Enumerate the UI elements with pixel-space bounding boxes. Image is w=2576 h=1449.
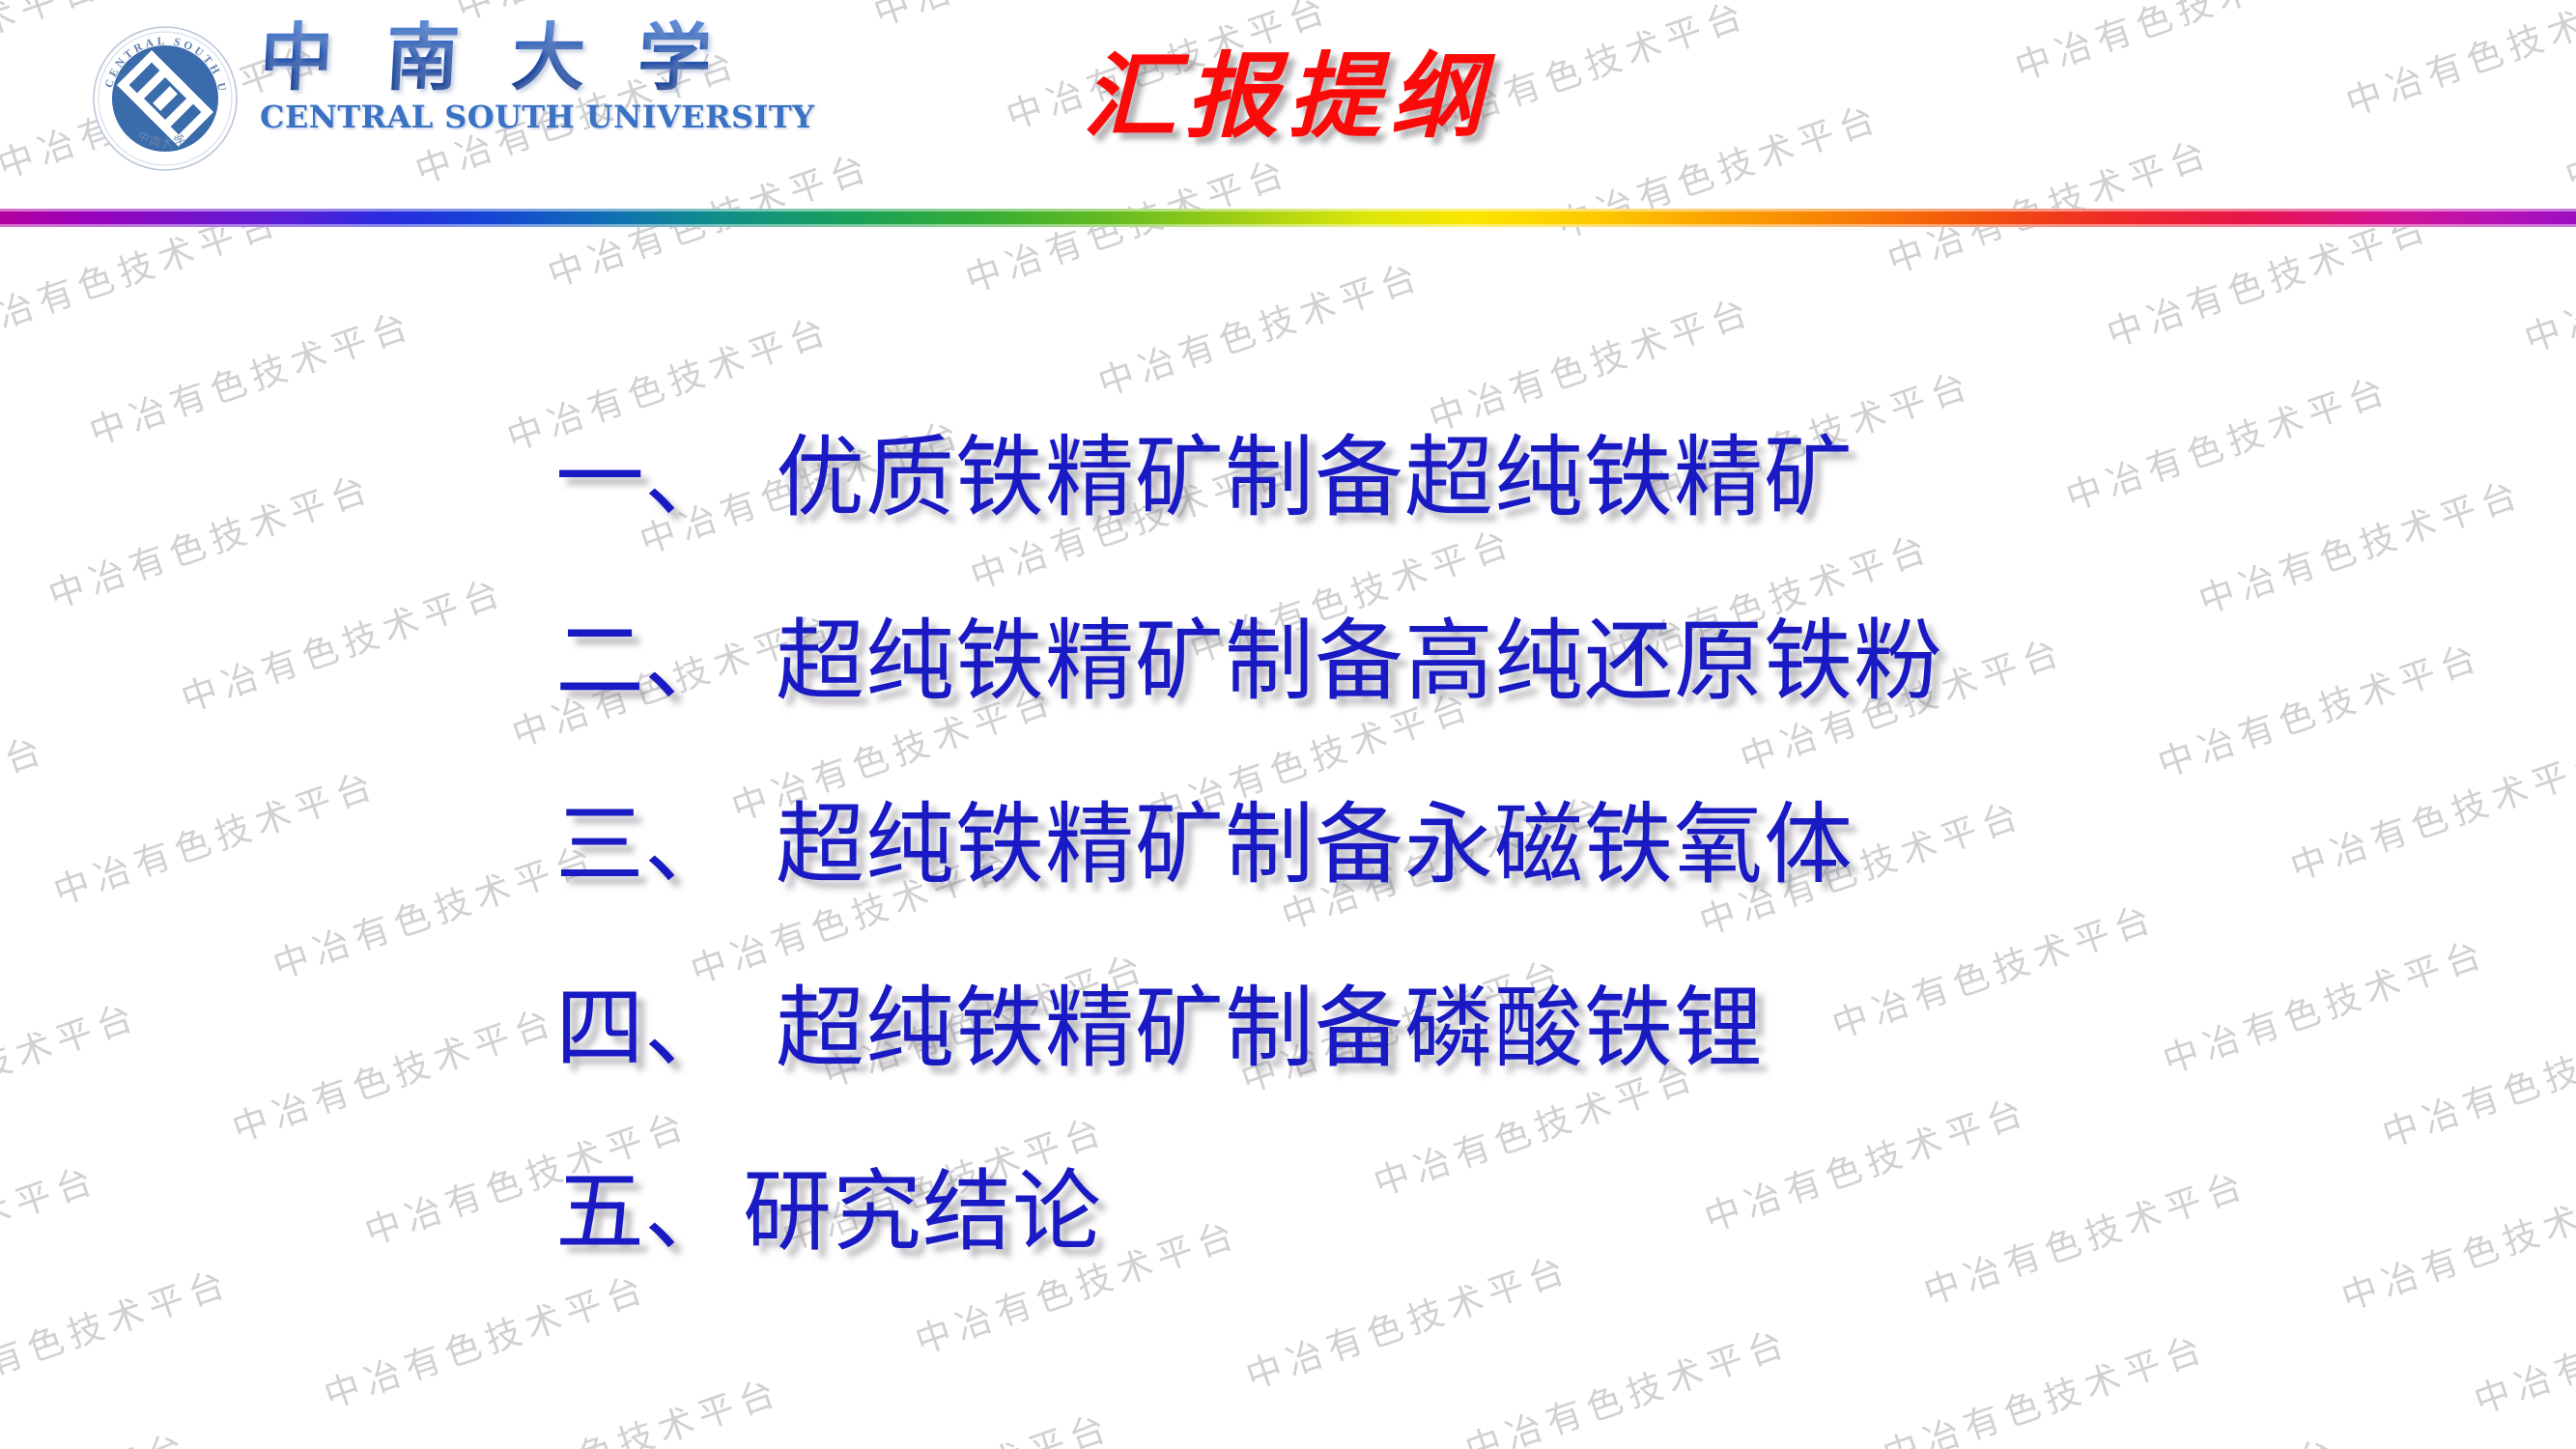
watermark-text: 中冶有色技术平台 bbox=[449, 1362, 787, 1449]
outline-item-number: 四、 bbox=[555, 937, 733, 1121]
outline-item: 二、超纯铁精矿制备高纯还原铁粉 bbox=[0, 570, 2576, 753]
outline-item-label: 超纯铁精矿制备磷酸铁锂 bbox=[776, 937, 1764, 1121]
university-logo: CENTRAL SOUTH UNIVERSITY 中南大学 中 南 大 学 CE… bbox=[92, 15, 768, 194]
outline-item-number: 五、 bbox=[555, 1121, 733, 1304]
outline-item: 四、超纯铁精矿制备磷酸铁锂 bbox=[0, 937, 2576, 1121]
outline-item: 一、优质铁精矿制备超纯铁精矿 bbox=[0, 386, 2576, 570]
watermark-text: 中冶有色技术平台 bbox=[1090, 246, 1429, 407]
outline-item-label: 研究结论 bbox=[743, 1121, 1102, 1304]
outline-item-number: 一、 bbox=[555, 386, 733, 570]
outline-item-label: 超纯铁精矿制备永磁铁氧体 bbox=[776, 753, 1854, 937]
watermark-text: 中冶有色技术平台 bbox=[1458, 1313, 1796, 1449]
presentation-slide: 中冶有色技术平台中冶有色技术平台中冶有色技术平台中冶有色技术平台中冶有色技术平台… bbox=[0, 0, 2576, 1449]
watermark-text: 中冶有色技术平台 bbox=[0, 1416, 196, 1449]
slide-header: CENTRAL SOUTH UNIVERSITY 中南大学 中 南 大 学 CE… bbox=[0, 0, 2576, 209]
watermark-text: 中冶有色技术平台 bbox=[2425, 1427, 2576, 1449]
outline-item-label: 超纯铁精矿制备高纯还原铁粉 bbox=[776, 570, 1943, 753]
logo-english-name: CENTRAL SOUTH UNIVERSITY bbox=[260, 99, 814, 135]
logo-chinese-name: 中 南 大 学 bbox=[258, 19, 727, 97]
outline-item: 五、研究结论 bbox=[0, 1121, 2576, 1304]
outline-item-label: 优质铁精矿制备超纯铁精矿 bbox=[776, 386, 1854, 570]
watermark-text: 中冶有色技术平台 bbox=[2008, 1422, 2346, 1449]
rainbow-divider bbox=[0, 209, 2576, 227]
watermark-text: 中冶有色技术平台 bbox=[1875, 1319, 2213, 1449]
outline-item-number: 二、 bbox=[555, 570, 733, 753]
outline-item: 三、超纯铁精矿制备永磁铁氧体 bbox=[0, 753, 2576, 937]
watermark-text: 中冶有色技术平台 bbox=[779, 1397, 1118, 1449]
outline-list: 一、优质铁精矿制备超纯铁精矿二、超纯铁精矿制备高纯还原铁粉三、超纯铁精矿制备永磁… bbox=[0, 386, 2576, 1304]
university-seal-icon: CENTRAL SOUTH UNIVERSITY 中南大学 bbox=[92, 25, 239, 172]
logo-wordmark: 中 南 大 学 CENTRAL SOUTH UNIVERSITY bbox=[260, 19, 814, 135]
outline-item-number: 三、 bbox=[555, 753, 733, 937]
